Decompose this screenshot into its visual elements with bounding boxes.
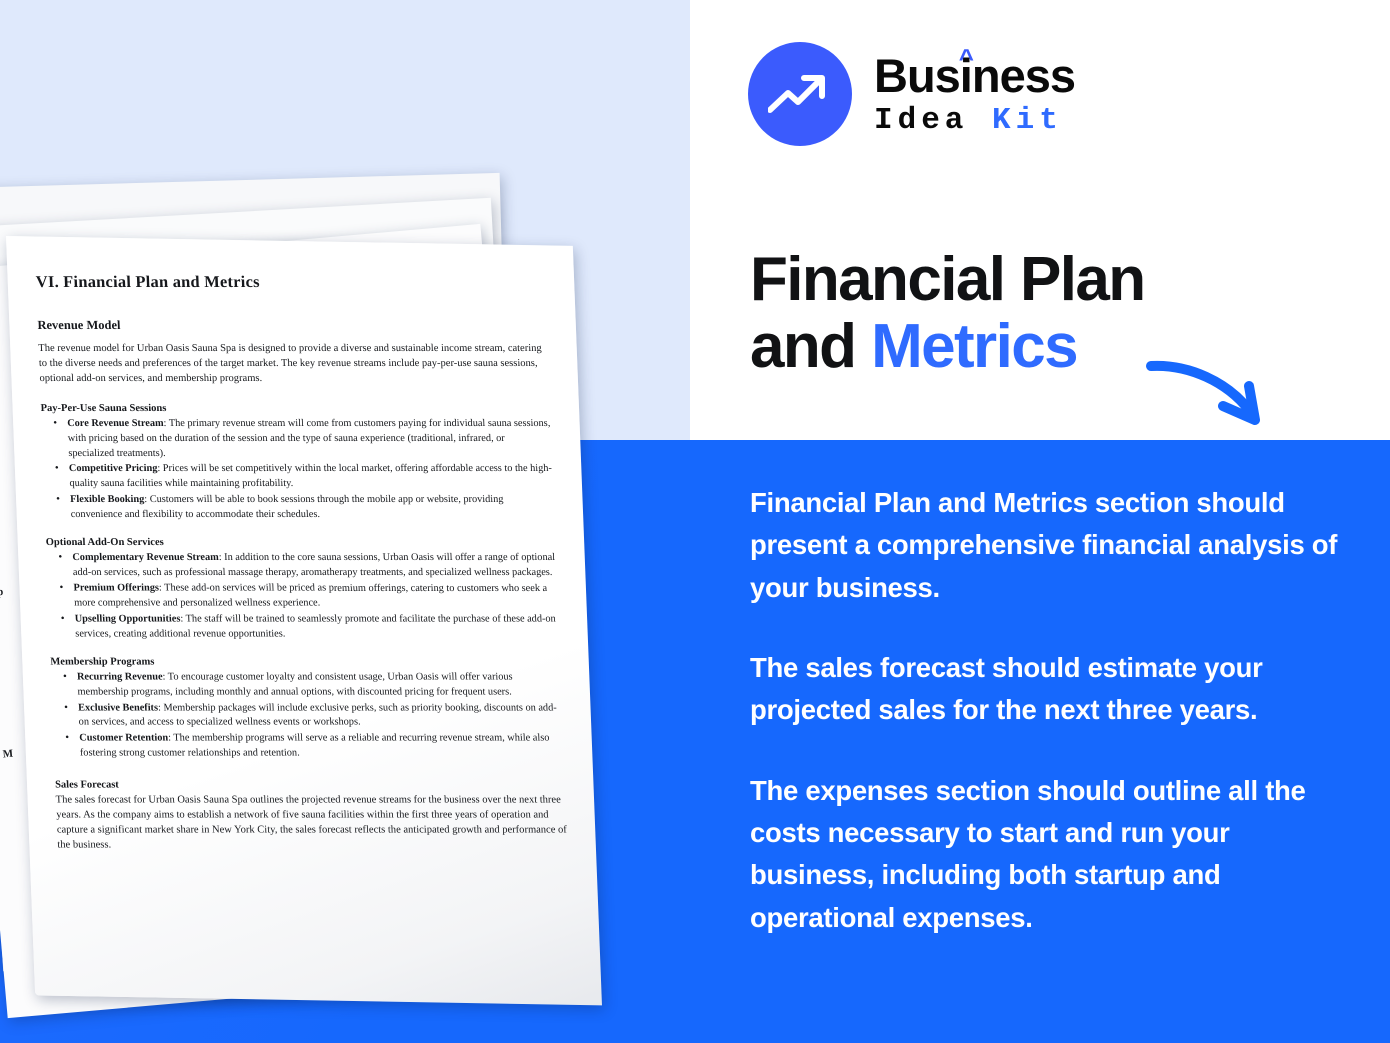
list-item: Exclusive Benefits: Membership packages … <box>52 701 564 731</box>
list-item-term: Core Revenue Stream <box>67 418 164 429</box>
list-item-term: Exclusive Benefits <box>78 702 158 713</box>
list-item-term: Upselling Opportunities <box>75 614 181 625</box>
list-item: Complementary Revenue Stream: In additio… <box>46 551 558 581</box>
page-title-and: and <box>750 312 871 381</box>
page-title-line-1: Financial Plan <box>750 247 1310 314</box>
brand-wordmark: Bus ^ i ness Idea Kit <box>874 50 1075 139</box>
brand-line-business: Bus ^ i ness <box>874 52 1075 100</box>
document-content: VI. Financial Plan and Metrics Revenue M… <box>6 236 596 853</box>
document-group-heading: Optional Add-On Services <box>46 537 557 548</box>
sales-forecast-paragraph: The sales forecast for Urban Oasis Sauna… <box>55 794 568 854</box>
list-item: Upselling Opportunities: The staff will … <box>48 613 560 643</box>
document-stack: VI. Re The inc stre Pay Op M VI. Financi… <box>0 150 750 1010</box>
document-bullet-list: Core Revenue Stream: The primary revenue… <box>41 417 555 523</box>
document-bullet-list: Recurring Revenue: To encourage customer… <box>51 670 565 761</box>
list-item: Competitive Pricing: Prices will be set … <box>43 462 555 492</box>
document-intro-paragraph: The revenue model for Urban Oasis Sauna … <box>38 342 550 387</box>
list-item-term: Flexible Booking <box>70 494 145 505</box>
document-group-heading: Pay-Per-Use Sauna Sessions <box>40 403 551 414</box>
brand-logo: Bus ^ i ness Idea Kit <box>748 42 1075 146</box>
document-title: VI. Financial Plan and Metrics <box>35 272 546 292</box>
brand-business-part-a: Bus <box>874 52 960 100</box>
document-groups: Pay-Per-Use Sauna SessionsCore Revenue S… <box>40 403 564 762</box>
list-item: Customer Retention: The membership progr… <box>53 732 565 762</box>
page-title-metrics: Metrics <box>871 312 1077 381</box>
brand-business-part-b: ness <box>972 52 1075 100</box>
list-item-term: Competitive Pricing <box>69 463 158 474</box>
list-item-term: Complementary Revenue Stream <box>72 552 219 563</box>
list-item: Flexible Booking: Customers will be able… <box>44 493 556 523</box>
document-group-heading: Membership Programs <box>50 656 561 667</box>
brand-kit: Kit <box>992 103 1063 138</box>
brand-business-i: ^ i <box>960 52 972 100</box>
list-item-term: Recurring Revenue <box>77 671 163 682</box>
description-paragraph: Financial Plan and Metrics section shoul… <box>750 482 1350 609</box>
list-item: Premium Offerings: These add-on services… <box>47 582 559 612</box>
circumflex-accent-icon: ^ <box>959 45 973 71</box>
description-paragraph: The sales forecast should estimate your … <box>750 647 1350 732</box>
growth-chart-arrow-icon <box>748 42 852 146</box>
document-bullet-list: Complementary Revenue Stream: In additio… <box>46 551 560 642</box>
brand-idea: Idea <box>874 103 968 138</box>
list-item: Recurring Revenue: To encourage customer… <box>51 670 563 700</box>
document-section-heading: Revenue Model <box>37 318 548 333</box>
brand-line-idea-kit: Idea Kit <box>874 103 1075 138</box>
list-item-term: Customer Retention <box>79 733 168 744</box>
list-item-term: Premium Offerings <box>73 583 159 594</box>
list-item: Core Revenue Stream: The primary revenue… <box>41 417 553 462</box>
curved-arrow-down-right-icon <box>1145 352 1285 432</box>
sales-forecast-heading: Sales Forecast <box>55 780 566 791</box>
document-page-front: VI. Financial Plan and Metrics Revenue M… <box>6 236 602 1005</box>
description-panel: Financial Plan and Metrics section shoul… <box>750 482 1350 939</box>
description-paragraph: The expenses section should outline all … <box>750 770 1350 939</box>
